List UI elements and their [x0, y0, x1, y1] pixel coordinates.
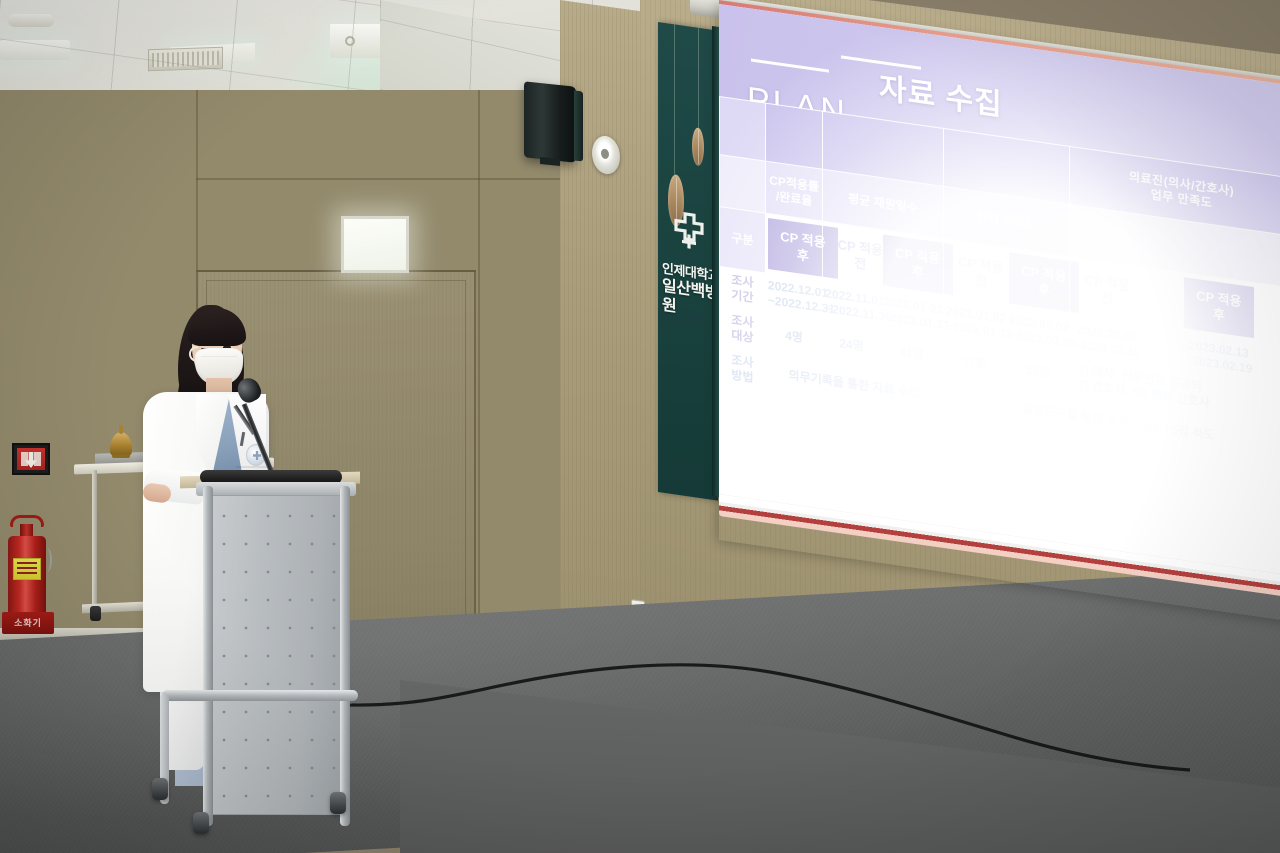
hospital-banner: 인제대학교 일산백병원: [658, 22, 718, 501]
fire-safety-sign: [12, 443, 50, 475]
chip-cp-after: CP 적용 후: [1009, 252, 1079, 312]
lab-coat-pocket: [236, 466, 270, 468]
th-sub-cp-rate: CP적용률 /완료율: [765, 161, 822, 221]
td-phase-cell: CP 적용 후: [880, 229, 943, 297]
extinguisher-label: [13, 558, 41, 580]
side-table-caster: [90, 606, 101, 621]
podium-top-edge: [196, 482, 356, 496]
banner-seed-ornament: [692, 127, 704, 167]
th-sub-blank: [720, 155, 766, 214]
td-row-label: 조사 방법: [720, 346, 766, 392]
projection-screen: PLAN 자료 수집 의료진(의사/간호사): [719, 0, 1280, 622]
chip-cp-before: CP 적용 전: [946, 243, 1016, 303]
chip-cp-after: CP 적용 후: [1184, 277, 1254, 337]
podium-frame-right: [340, 486, 350, 826]
side-table-leg: [92, 470, 97, 610]
td-row-label: 조사 기간: [720, 266, 766, 313]
ceiling-light-left: [0, 40, 70, 60]
presentation-photo: 소화기: [0, 0, 1280, 853]
th-blank: [720, 97, 766, 162]
wall-light-panel: [341, 216, 409, 273]
td-phase-cell: CP 적용 전: [823, 221, 880, 289]
extinguisher-base-text: 소화기: [6, 616, 50, 629]
slide-content: PLAN 자료 수집 의료진(의사/간호사): [719, 4, 1280, 576]
podium-push-handle[interactable]: [162, 690, 358, 701]
ceiling-hook-icon: [345, 36, 355, 46]
podium: [206, 495, 346, 815]
smoke-detector-icon: [8, 14, 54, 27]
banner-text-block: 인제대학교 일산백병원: [662, 261, 718, 325]
td-phase-cell: CP 적용 후: [765, 213, 822, 281]
banner-line-hospital: 일산백병원: [662, 276, 718, 324]
th-cp-rate: [765, 103, 822, 169]
podium-caster-right: [330, 792, 346, 814]
podium-caster-left: [152, 778, 168, 800]
podium-caster-front: [193, 812, 209, 834]
td-phase-cell: CP 적용 전: [1070, 256, 1145, 326]
banner-side-edge: [712, 26, 719, 497]
ceiling-light-mid: [170, 43, 255, 65]
hospital-cross-logo: [672, 210, 706, 255]
td-phase-cell: CP 적용 후: [1006, 247, 1069, 315]
podium-frame-left: [203, 486, 213, 826]
wall-speaker-icon: [524, 81, 576, 162]
chip-cp-before: CP 적용 전: [1072, 261, 1142, 321]
td-row-label: 조사 대상: [720, 306, 766, 353]
screen-surface: PLAN 자료 수집 의료진(의사/간호사): [719, 4, 1280, 576]
td-row-label-gubun: 구분: [720, 207, 766, 273]
ceiling-air-vent: [148, 47, 223, 72]
chip-cp-after: CP 적용 후: [883, 234, 953, 294]
td-phase-cell: CP 적용 전: [943, 238, 1006, 306]
